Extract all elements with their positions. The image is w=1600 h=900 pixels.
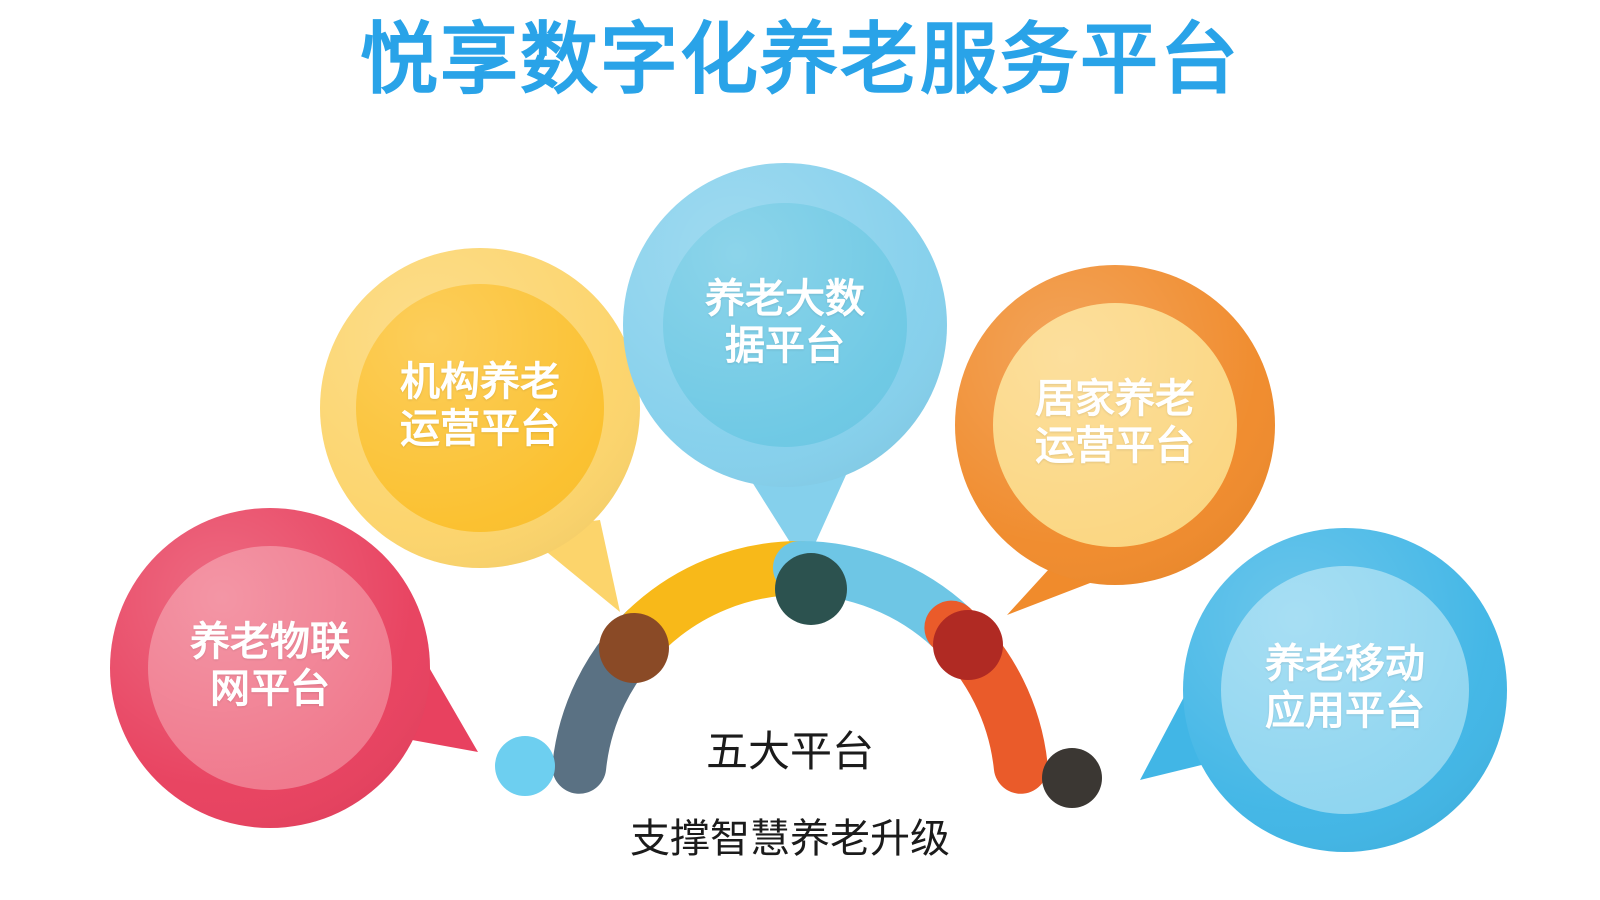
center-subheadline: 支撑智慧养老升级 <box>0 806 1590 864</box>
bubble-gloss-big-data <box>623 163 947 487</box>
bubble-gloss-home-care <box>955 265 1275 585</box>
arc-node-teal[interactable] <box>775 553 847 625</box>
arc-node-rust[interactable] <box>599 613 669 683</box>
arc-node-crimson[interactable] <box>933 610 1003 680</box>
bubble-big-data[interactable] <box>623 163 947 566</box>
bubble-gloss-institutional-care <box>320 248 640 568</box>
bubble-gloss-iot <box>110 508 430 828</box>
infographic-poster: 悦享数字化养老服务平台 机构养老 运营平台养老大数 据平台居家养老 运营平台养老… <box>0 0 1600 900</box>
bubble-gloss-mobile-app <box>1183 528 1507 852</box>
bubble-home-care[interactable] <box>955 265 1275 615</box>
bubble-mobile-app[interactable] <box>1140 528 1507 852</box>
center-headline: 五大平台 <box>0 718 1590 779</box>
